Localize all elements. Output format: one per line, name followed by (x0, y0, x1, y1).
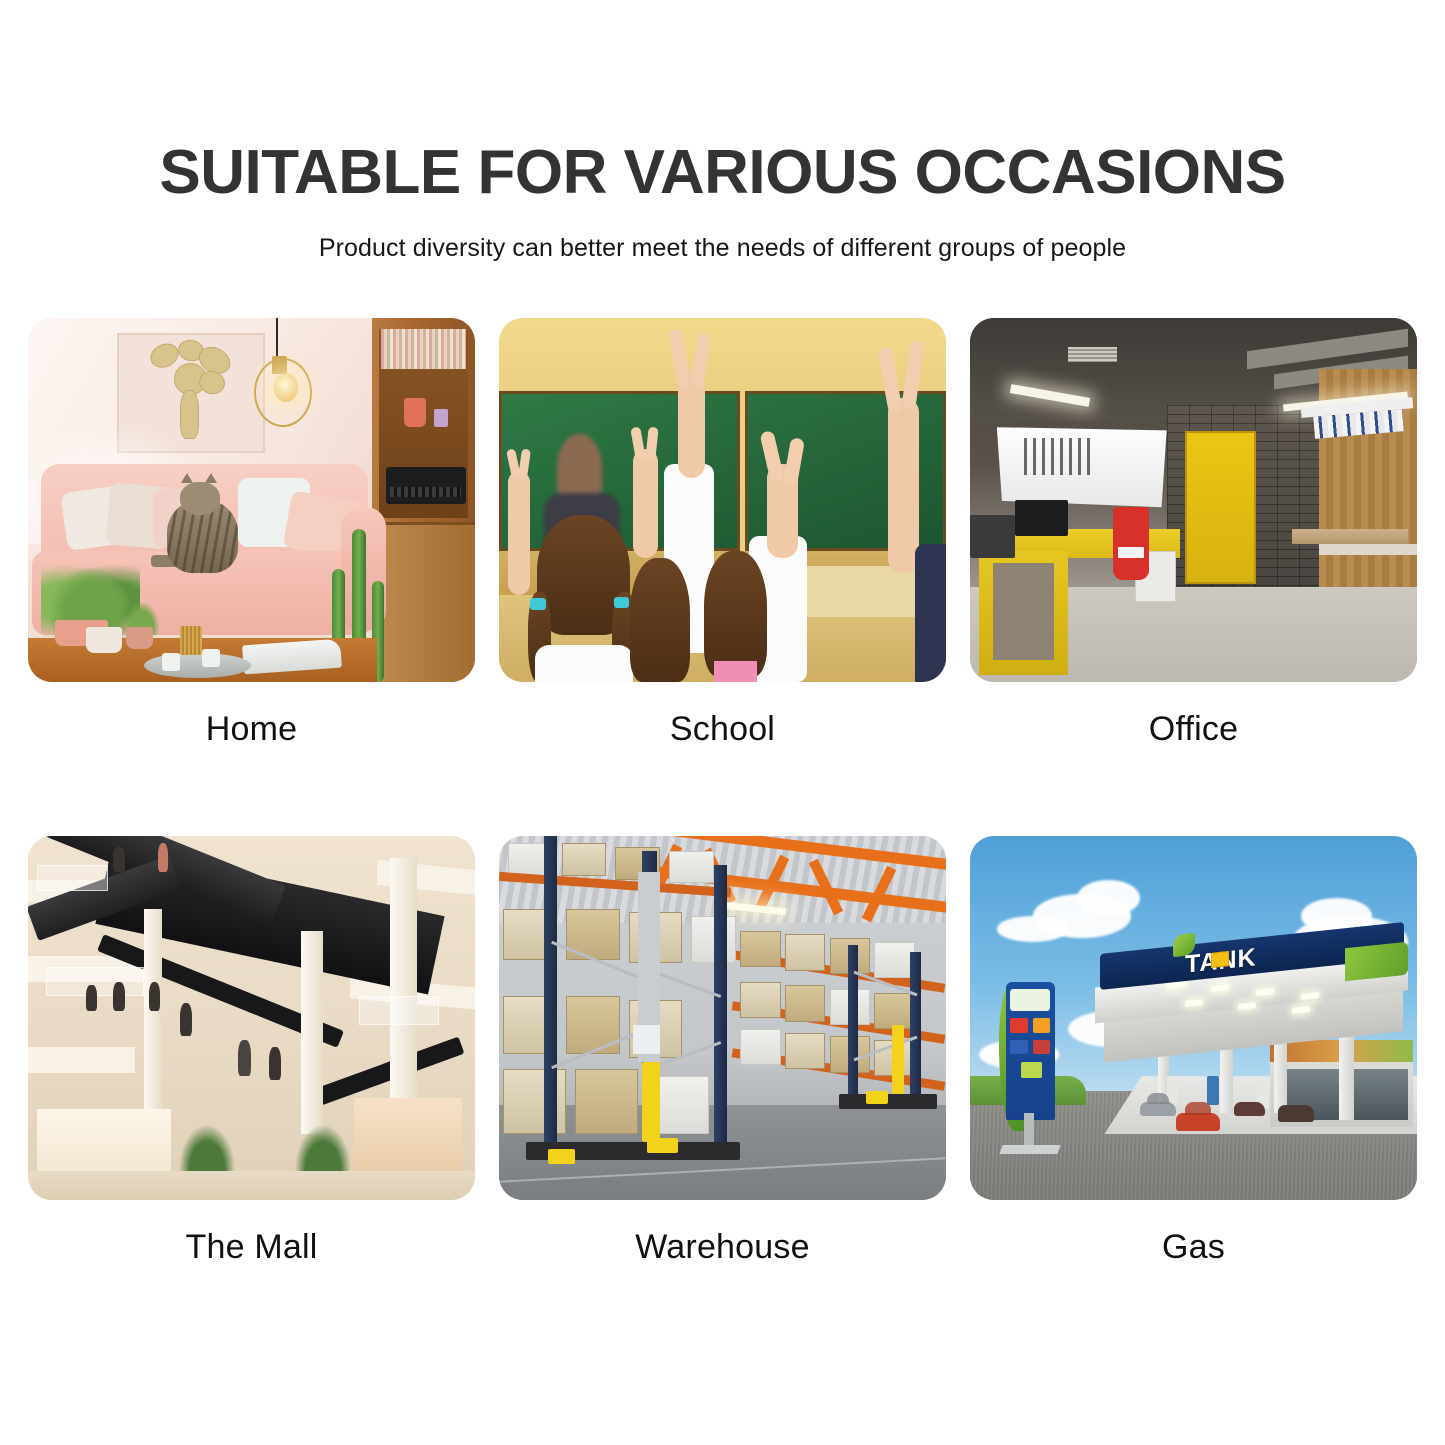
pendant-light-icon (274, 373, 299, 402)
occasion-card-school[interactable]: School (499, 318, 946, 746)
occasion-label-gas: Gas (1162, 1230, 1225, 1264)
occasion-card-mall[interactable]: The Mall (28, 836, 475, 1264)
occasion-image-home (28, 318, 475, 682)
car-icon (1234, 1102, 1265, 1117)
car-icon (1278, 1105, 1314, 1121)
occasion-label-warehouse: Warehouse (635, 1230, 809, 1264)
occasion-card-home[interactable]: Home (28, 318, 475, 746)
car-icon (1176, 1113, 1221, 1131)
typewriter-icon (386, 467, 466, 503)
occasion-image-mall (28, 836, 475, 1200)
red-bag-icon (1113, 507, 1149, 580)
page-subtitle: Product diversity can better meet the ne… (0, 234, 1445, 263)
occasion-image-gas: TANK (970, 836, 1417, 1200)
car-icon (1140, 1102, 1176, 1117)
occasion-label-mall: The Mall (186, 1230, 318, 1264)
page-title: SUITABLE FOR VARIOUS OCCASIONS (0, 142, 1445, 204)
yellow-door (1185, 431, 1257, 584)
occasion-card-office[interactable]: Office (970, 318, 1417, 746)
page-header: SUITABLE FOR VARIOUS OCCASIONS Product d… (0, 0, 1445, 263)
occasion-label-home: Home (206, 712, 298, 746)
occasion-label-office: Office (1149, 712, 1238, 746)
occasion-image-school (499, 318, 946, 682)
occasion-label-school: School (670, 712, 775, 746)
occasion-image-office (970, 318, 1417, 682)
occasion-card-gas[interactable]: TANK (970, 836, 1417, 1264)
occasion-card-warehouse[interactable]: Warehouse (499, 836, 946, 1264)
grid-row-spacer (28, 746, 1417, 836)
occasions-grid: Home (0, 318, 1445, 1264)
occasion-image-warehouse (499, 836, 946, 1200)
